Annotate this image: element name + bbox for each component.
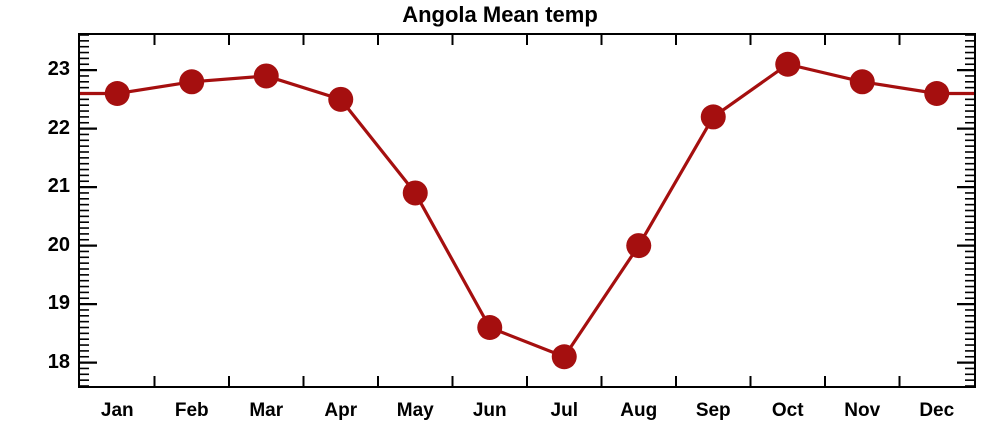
y-axis-title: °C	[0, 116, 5, 196]
x-tick-label-jun: Jun	[473, 400, 507, 422]
x-axis-tick-labels: JanFebMarAprMayJunJulAugSepOctNovDec	[0, 0, 1000, 431]
x-tick-label-jul: Jul	[551, 400, 578, 422]
x-tick-label-feb: Feb	[175, 400, 209, 422]
x-tick-label-aug: Aug	[620, 400, 657, 422]
chart-page: Angola Mean temp 232221201918 JanFebMarA…	[0, 0, 1000, 431]
x-tick-label-apr: Apr	[324, 400, 357, 422]
x-tick-label-sep: Sep	[696, 400, 731, 422]
x-tick-label-may: May	[397, 400, 434, 422]
x-tick-label-mar: Mar	[249, 400, 283, 422]
x-tick-label-oct: Oct	[772, 400, 804, 422]
x-tick-label-nov: Nov	[844, 400, 880, 422]
x-tick-label-dec: Dec	[919, 400, 954, 422]
x-tick-label-jan: Jan	[101, 400, 134, 422]
